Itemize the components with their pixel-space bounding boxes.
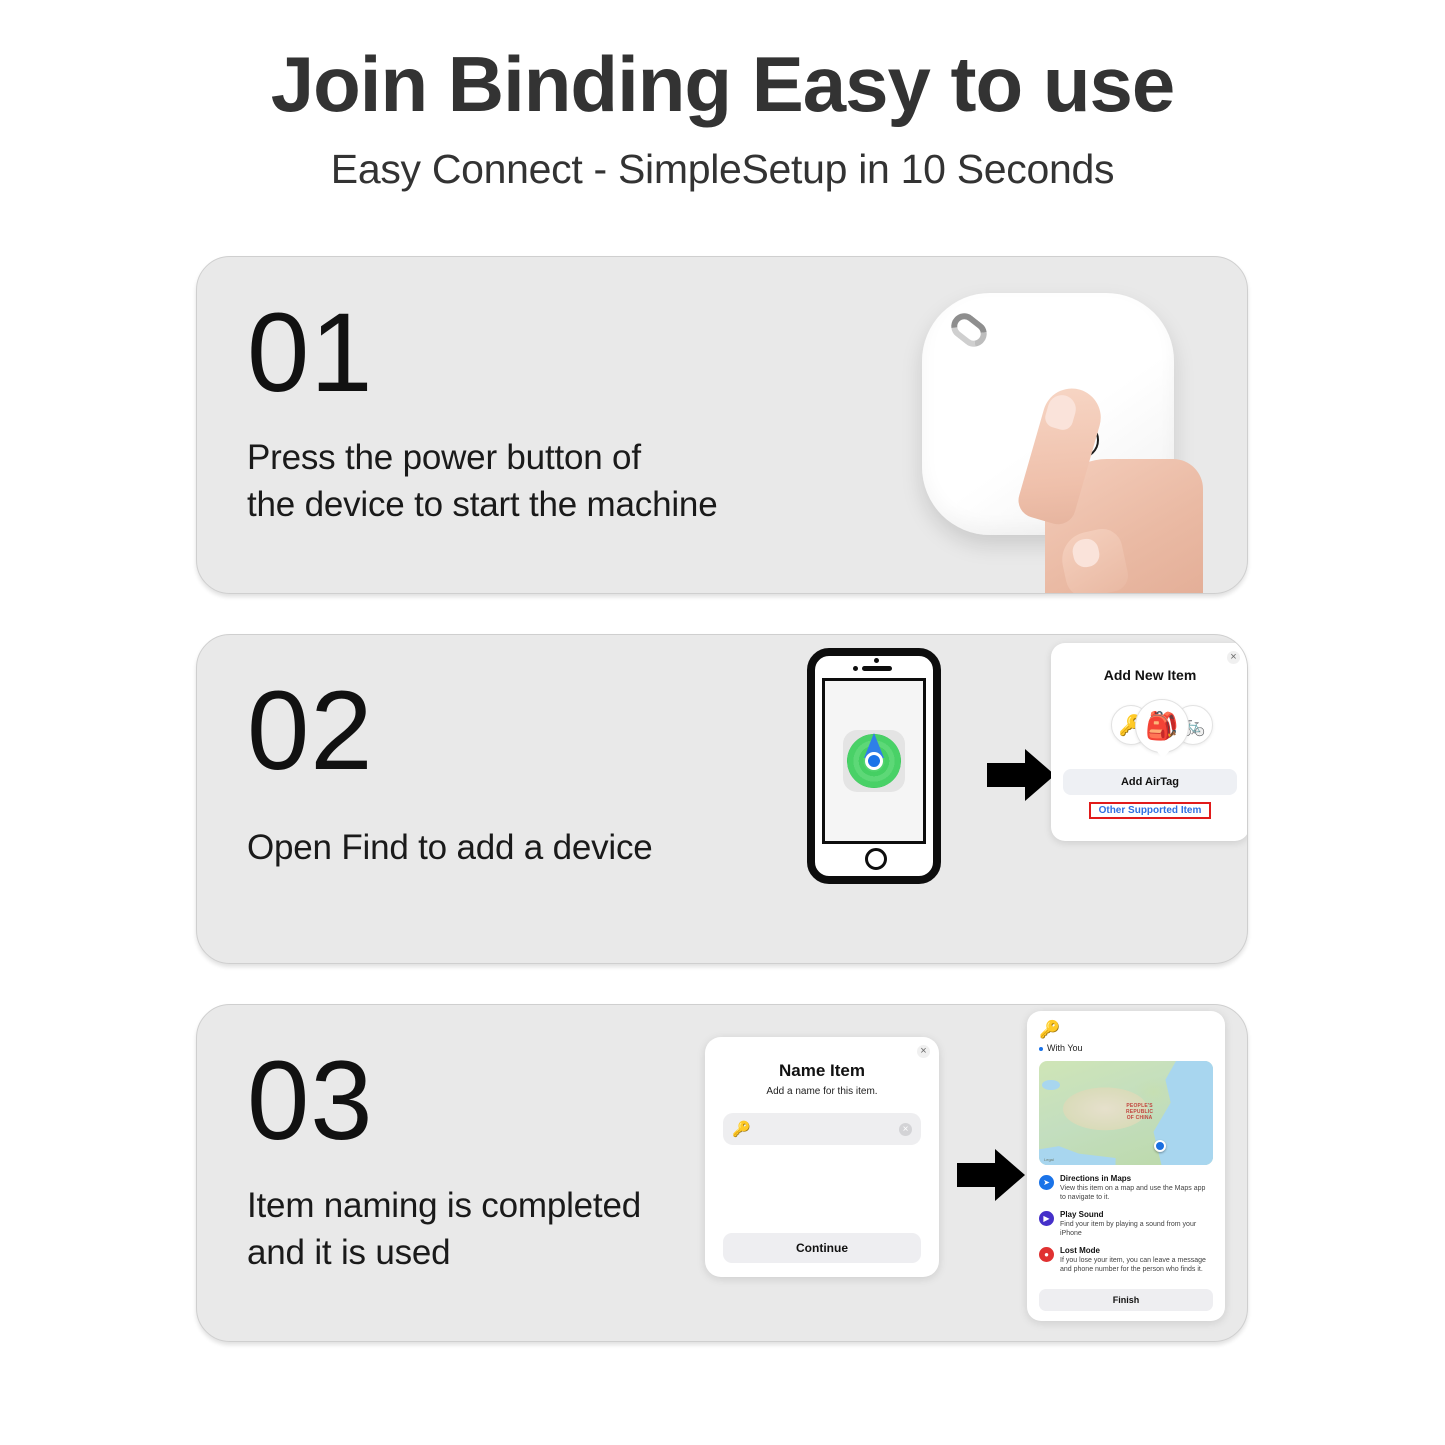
- step-03-description-line2: and it is used: [247, 1230, 641, 1277]
- key-emoji-icon: 🔑: [732, 1120, 751, 1138]
- action-text: Play Sound Find your item by playing a s…: [1060, 1210, 1213, 1239]
- status-text: With You: [1047, 1043, 1083, 1053]
- action-description: View this item on a map and use the Maps…: [1060, 1184, 1213, 1203]
- name-item-dialog: × Name Item Add a name for this item. 🔑 …: [705, 1037, 939, 1277]
- tracker-illustration: [877, 273, 1237, 593]
- step-01-description: Press the power button of the device to …: [247, 435, 717, 528]
- map-preview[interactable]: PEOPLE'S REPUBLIC OF CHINA Legal: [1039, 1061, 1213, 1165]
- step-01-number: 01: [247, 297, 717, 409]
- step-01-text: 01 Press the power button of the device …: [247, 297, 717, 528]
- add-airtag-button[interactable]: Add AirTag: [1063, 769, 1237, 795]
- name-item-dialog-title: Name Item: [723, 1061, 921, 1081]
- phone-sensor-dot: [874, 658, 879, 663]
- add-item-dialog-title: Add New Item: [1063, 667, 1237, 683]
- map-country-label: PEOPLE'S REPUBLIC OF CHINA: [1126, 1103, 1153, 1122]
- step-card-01: 01 Press the power button of the device …: [196, 256, 1248, 594]
- promo-page: Join Binding Easy to use Easy Connect - …: [0, 0, 1445, 1445]
- action-description: Find your item by playing a sound from y…: [1060, 1220, 1213, 1239]
- directions-icon: ➤: [1039, 1175, 1054, 1190]
- map-lake: [1042, 1080, 1059, 1090]
- play-sound-icon: ▶: [1039, 1211, 1054, 1226]
- step-01-description-line2: the device to start the machine: [247, 482, 717, 529]
- close-icon[interactable]: ×: [1227, 651, 1240, 664]
- page-subtitle: Easy Connect - SimpleSetup in 10 Seconds: [0, 146, 1445, 193]
- lost-mode-icon: ●: [1039, 1247, 1054, 1262]
- findmy-location-dot-icon: [865, 752, 883, 770]
- finish-button[interactable]: Finish: [1039, 1289, 1213, 1311]
- keyring-hole-icon: [946, 308, 992, 352]
- findmy-radar-icon: [847, 734, 901, 788]
- phone-screen: [822, 678, 926, 844]
- step-02-description: Open Find to add a device: [247, 825, 653, 872]
- item-emoji-bubbles: 🔑 🚲 🎒: [1063, 699, 1237, 761]
- phone-camera-icon: [853, 666, 858, 671]
- list-item[interactable]: ● Lost Mode If you lose your item, you c…: [1039, 1246, 1213, 1275]
- action-text: Directions in Maps View this item on a m…: [1060, 1174, 1213, 1203]
- step-03-number: 03: [247, 1045, 641, 1157]
- close-icon[interactable]: ×: [917, 1045, 930, 1058]
- step-02-number: 02: [247, 675, 653, 787]
- item-detail-panel: 🔑 With You PEOPLE'S REPUBLIC OF CHINA: [1027, 1011, 1225, 1321]
- iphone-outline: [807, 648, 941, 884]
- step-card-02: 02 Open Find to add a device: [196, 634, 1248, 964]
- map-location-pin-icon: [1154, 1140, 1166, 1152]
- step-02-description-line1: Open Find to add a device: [247, 825, 653, 872]
- steps-list: 01 Press the power button of the device …: [196, 256, 1248, 1342]
- action-title: Directions in Maps: [1060, 1174, 1213, 1183]
- naming-illustration: × Name Item Add a name for this item. 🔑 …: [697, 1005, 1248, 1342]
- action-title: Play Sound: [1060, 1210, 1213, 1219]
- item-key-emoji-icon: 🔑: [1039, 1021, 1213, 1038]
- action-description: If you lose your item, you can leave a m…: [1060, 1256, 1213, 1275]
- step-03-description: Item naming is completed and it is used: [247, 1183, 641, 1276]
- list-item[interactable]: ➤ Directions in Maps View this item on a…: [1039, 1174, 1213, 1203]
- name-item-dialog-subtitle: Add a name for this item.: [723, 1086, 921, 1097]
- step-card-03: 03 Item naming is completed and it is us…: [196, 1004, 1248, 1342]
- item-status-label: With You: [1039, 1043, 1213, 1053]
- step-01-description-line1: Press the power button of: [247, 435, 717, 482]
- other-supported-item-link[interactable]: Other Supported Item: [1089, 802, 1211, 819]
- clear-input-icon[interactable]: ×: [899, 1123, 912, 1136]
- step-03-description-line1: Item naming is completed: [247, 1183, 641, 1230]
- page-title: Join Binding Easy to use: [0, 44, 1445, 126]
- add-new-item-dialog: × Add New Item 🔑 🚲 🎒 Add AirTag Other Su…: [1051, 643, 1248, 841]
- findmy-illustration: × Add New Item 🔑 🚲 🎒 Add AirTag Other Su…: [795, 635, 1248, 964]
- step-03-text: 03 Item naming is completed and it is us…: [247, 1045, 641, 1276]
- phone-home-button[interactable]: [865, 848, 887, 870]
- item-actions-list: ➤ Directions in Maps View this item on a…: [1039, 1174, 1213, 1275]
- item-name-input[interactable]: 🔑 ×: [723, 1113, 921, 1145]
- map-legal-label[interactable]: Legal: [1044, 1157, 1054, 1162]
- status-dot-icon: [1039, 1047, 1043, 1051]
- phone-speaker: [862, 666, 892, 671]
- continue-button[interactable]: Continue: [723, 1233, 921, 1263]
- action-text: Lost Mode If you lose your item, you can…: [1060, 1246, 1213, 1275]
- findmy-app-icon[interactable]: [843, 730, 905, 792]
- backpack-emoji-icon: 🎒: [1135, 699, 1189, 753]
- map-country-label-line3: OF CHINA: [1126, 1115, 1153, 1121]
- hand-illustration: [1027, 381, 1202, 594]
- list-item[interactable]: ▶ Play Sound Find your item by playing a…: [1039, 1210, 1213, 1239]
- step-02-text: 02 Open Find to add a device: [247, 675, 653, 872]
- page-header: Join Binding Easy to use Easy Connect - …: [0, 0, 1445, 193]
- map-country-label-line1: PEOPLE'S: [1126, 1103, 1153, 1109]
- action-title: Lost Mode: [1060, 1246, 1213, 1255]
